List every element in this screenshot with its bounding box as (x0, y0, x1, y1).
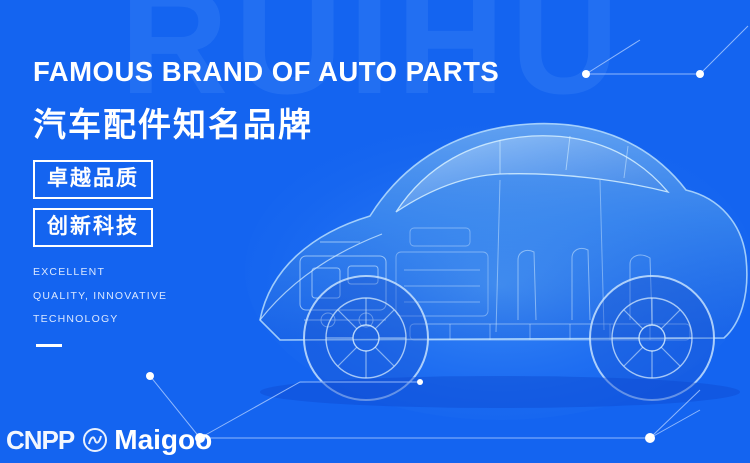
accent-rule (36, 344, 62, 347)
feature-tag-technology: 创新科技 (33, 208, 153, 247)
headline-english: FAMOUS BRAND OF AUTO PARTS (33, 56, 499, 88)
banner-root: RUIHU (0, 0, 750, 463)
subtitle-line-3: TECHNOLOGY (33, 314, 119, 325)
subtitle-line-2: QUALITY, INNOVATIVE (33, 291, 167, 302)
subtitle-line-1: EXCELLENT (33, 267, 105, 278)
cnpp-logo-text: CNPP (6, 425, 74, 456)
maigoo-logo-text: Maigoo (114, 424, 212, 456)
deco-node (146, 372, 154, 380)
headline-chinese: 汽车配件知名品牌 (33, 98, 313, 146)
footer-logo-bar: CNPP Maigoo (0, 417, 750, 463)
maigoo-mark-icon (82, 427, 108, 453)
feature-tag-quality: 卓越品质 (33, 160, 153, 199)
